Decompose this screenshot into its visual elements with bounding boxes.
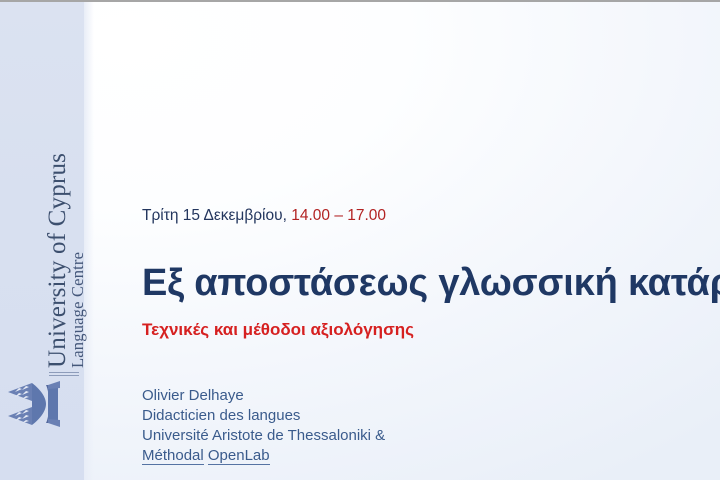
event-date-text: Τρίτη 15 Δεκεμβρίου, [142,207,287,224]
event-date-line: Τρίτη 15 Δεκεμβρίου, 14.00 – 17.00 [142,207,386,225]
top-divider-rule [0,0,720,2]
presenter-lab: Méthodal OpenLab [142,446,385,466]
branding-wordmark: University of Cyprus Language Centre [0,0,84,400]
presenter-role: Didacticien des langues [142,406,385,426]
presentation-slide: University of Cyprus Language Centre [0,0,720,480]
slide-subtitle: Τεχνικές και μέθοδοι αξιολόγησης [142,320,414,340]
university-of-cyprus-emblem-icon [2,381,80,443]
branding-divider-line-top [49,372,79,373]
event-time-text: 14.00 – 17.00 [291,207,386,224]
branding-divider-line-bottom [49,375,79,376]
lab-name-methodal[interactable]: Méthodal [142,447,204,465]
lab-name-openlab[interactable]: OpenLab [208,447,270,465]
presenter-name: Olivier Delhaye [142,386,385,406]
language-centre-name: Language Centre [68,252,88,368]
presenter-affiliation: Université Aristote de Thessaloniki & [142,426,385,446]
slide-title: Εξ αποστάσεως γλωσσική κατάρ [142,262,720,305]
presenter-block: Olivier Delhaye Didacticien des langues … [142,386,385,466]
slide-content: Τρίτη 15 Δεκεμβρίου, 14.00 – 17.00 Εξ απ… [142,0,720,480]
branding-sidebar-edge [84,2,94,480]
